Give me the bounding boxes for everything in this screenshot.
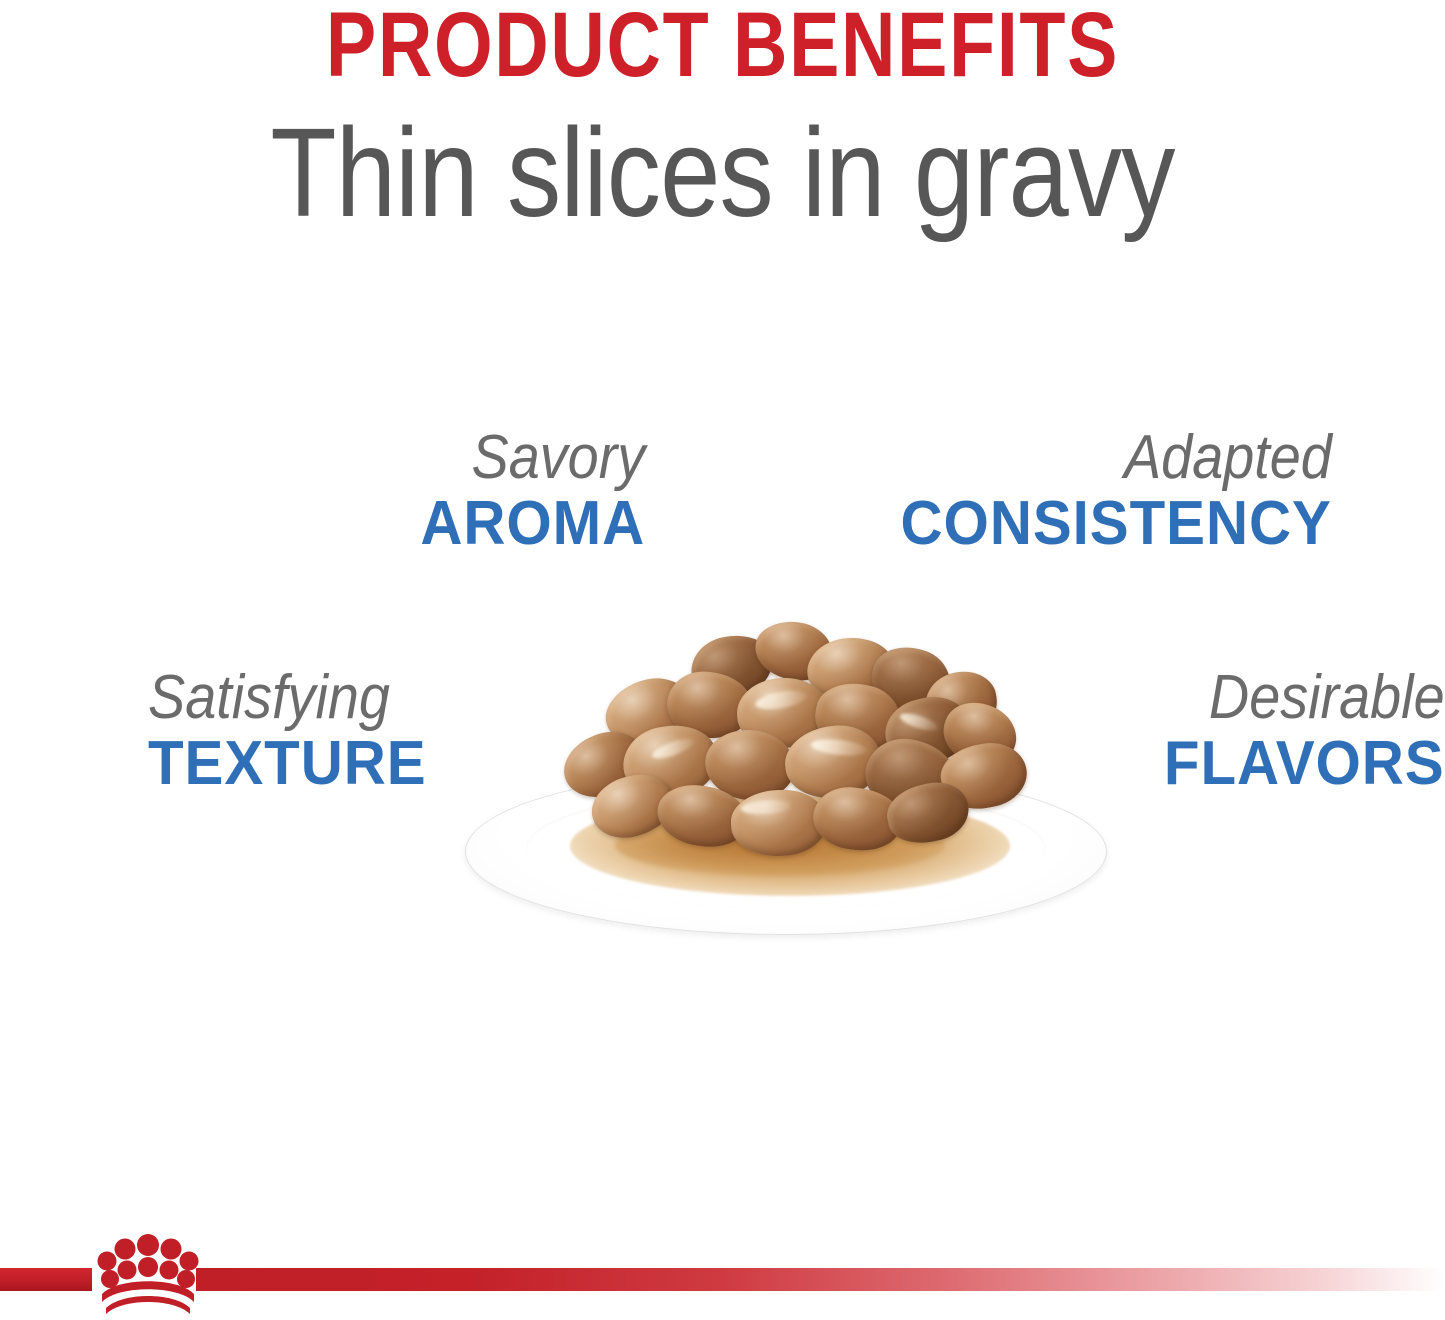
benefit-texture-adjective: Satisfying	[148, 668, 415, 728]
benefit-consistency-adjective: Adapted	[919, 428, 1332, 488]
food-pile	[455, 600, 1115, 950]
crown-icon	[96, 1232, 200, 1316]
page-title: PRODUCT BENEFITS	[130, 0, 1315, 88]
benefit-texture-noun: TEXTURE	[148, 733, 427, 795]
brand-rule-left	[0, 1268, 92, 1291]
royal-canin-crown-logo	[96, 1232, 200, 1316]
benefit-consistency-noun: CONSISTENCY	[901, 493, 1332, 555]
benefit-aroma: Savory AROMA	[406, 428, 645, 555]
crown-arc-lower	[106, 1296, 190, 1314]
benefit-consistency: Adapted CONSISTENCY	[873, 428, 1332, 555]
benefit-flavors-noun: FLAVORS	[1164, 733, 1445, 795]
benefit-texture: Satisfying TEXTURE	[148, 668, 444, 795]
food-product-image	[455, 600, 1115, 950]
brand-rule-right	[196, 1268, 1445, 1291]
benefit-flavors: Desirable FLAVORS	[1146, 668, 1445, 795]
benefit-aroma-noun: AROMA	[420, 493, 645, 555]
footer	[0, 1232, 1445, 1320]
page-subtitle: Thin slices in gravy	[101, 110, 1344, 236]
benefit-flavors-adjective: Desirable	[1176, 668, 1445, 728]
header: PRODUCT BENEFITS Thin slices in gravy	[0, 0, 1445, 236]
benefit-aroma-adjective: Savory	[430, 428, 645, 488]
